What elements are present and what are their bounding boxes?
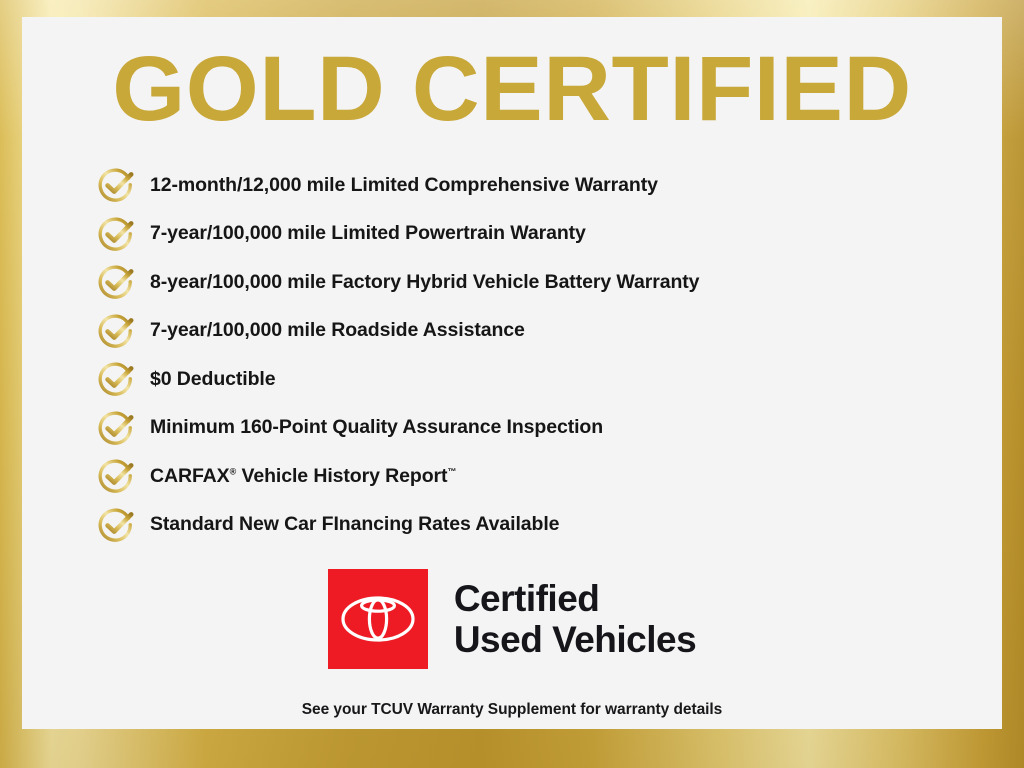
list-item: 8-year/100,000 mile Factory Hybrid Vehic…: [96, 258, 976, 307]
check-circle-icon: [96, 311, 150, 351]
toyota-ellipse-icon: [340, 592, 416, 646]
list-item: CARFAX® Vehicle History Report™: [96, 452, 976, 501]
list-item: Standard New Car FInancing Rates Availab…: [96, 501, 976, 550]
cuv-line-2: Used Vehicles: [454, 619, 696, 660]
list-item: 12-month/12,000 mile Limited Comprehensi…: [96, 161, 976, 210]
list-item: 7-year/100,000 mile Limited Powertrain W…: [96, 210, 976, 259]
benefit-label: Standard New Car FInancing Rates Availab…: [150, 513, 559, 536]
check-circle-icon: [96, 408, 150, 448]
gold-certified-card: GOLD CERTIFIED: [0, 0, 1024, 768]
benefit-label: 7-year/100,000 mile Roadside Assistance: [150, 319, 525, 342]
check-circle-icon: [96, 359, 150, 399]
carfax-wordmark: CARFAX: [150, 465, 230, 487]
list-item: 7-year/100,000 mile Roadside Assistance: [96, 307, 976, 356]
check-circle-icon: [96, 165, 150, 205]
check-circle-icon: [96, 262, 150, 302]
list-item: Minimum 160-Point Quality Assurance Insp…: [96, 404, 976, 453]
certificate-inner-panel: GOLD CERTIFIED: [22, 17, 1002, 729]
benefit-label: 8-year/100,000 mile Factory Hybrid Vehic…: [150, 271, 699, 294]
check-circle-icon: [96, 456, 150, 496]
toyota-certified-used-vehicles-lockup: Certified Used Vehicles: [22, 569, 1002, 669]
list-item: $0 Deductible: [96, 355, 976, 404]
page-title: GOLD CERTIFIED: [12, 43, 1012, 135]
carfax-report-text: Vehicle History Report: [236, 465, 447, 487]
trademark-mark: ™: [447, 466, 456, 476]
benefit-label: Minimum 160-Point Quality Assurance Insp…: [150, 416, 603, 439]
benefit-label: 12-month/12,000 mile Limited Comprehensi…: [150, 174, 658, 197]
warranty-disclaimer: See your TCUV Warranty Supplement for wa…: [22, 701, 1002, 719]
toyota-logo-tile: [328, 569, 428, 669]
check-circle-icon: [96, 505, 150, 545]
benefit-label: 7-year/100,000 mile Limited Powertrain W…: [150, 222, 586, 245]
benefits-list: 12-month/12,000 mile Limited Comprehensi…: [96, 161, 976, 549]
cuv-line-1: Certified: [454, 578, 696, 619]
benefit-label: $0 Deductible: [150, 368, 276, 391]
cuv-wordmark: Certified Used Vehicles: [454, 578, 696, 661]
check-circle-icon: [96, 214, 150, 254]
benefit-label-carfax: CARFAX® Vehicle History Report™: [150, 465, 456, 488]
